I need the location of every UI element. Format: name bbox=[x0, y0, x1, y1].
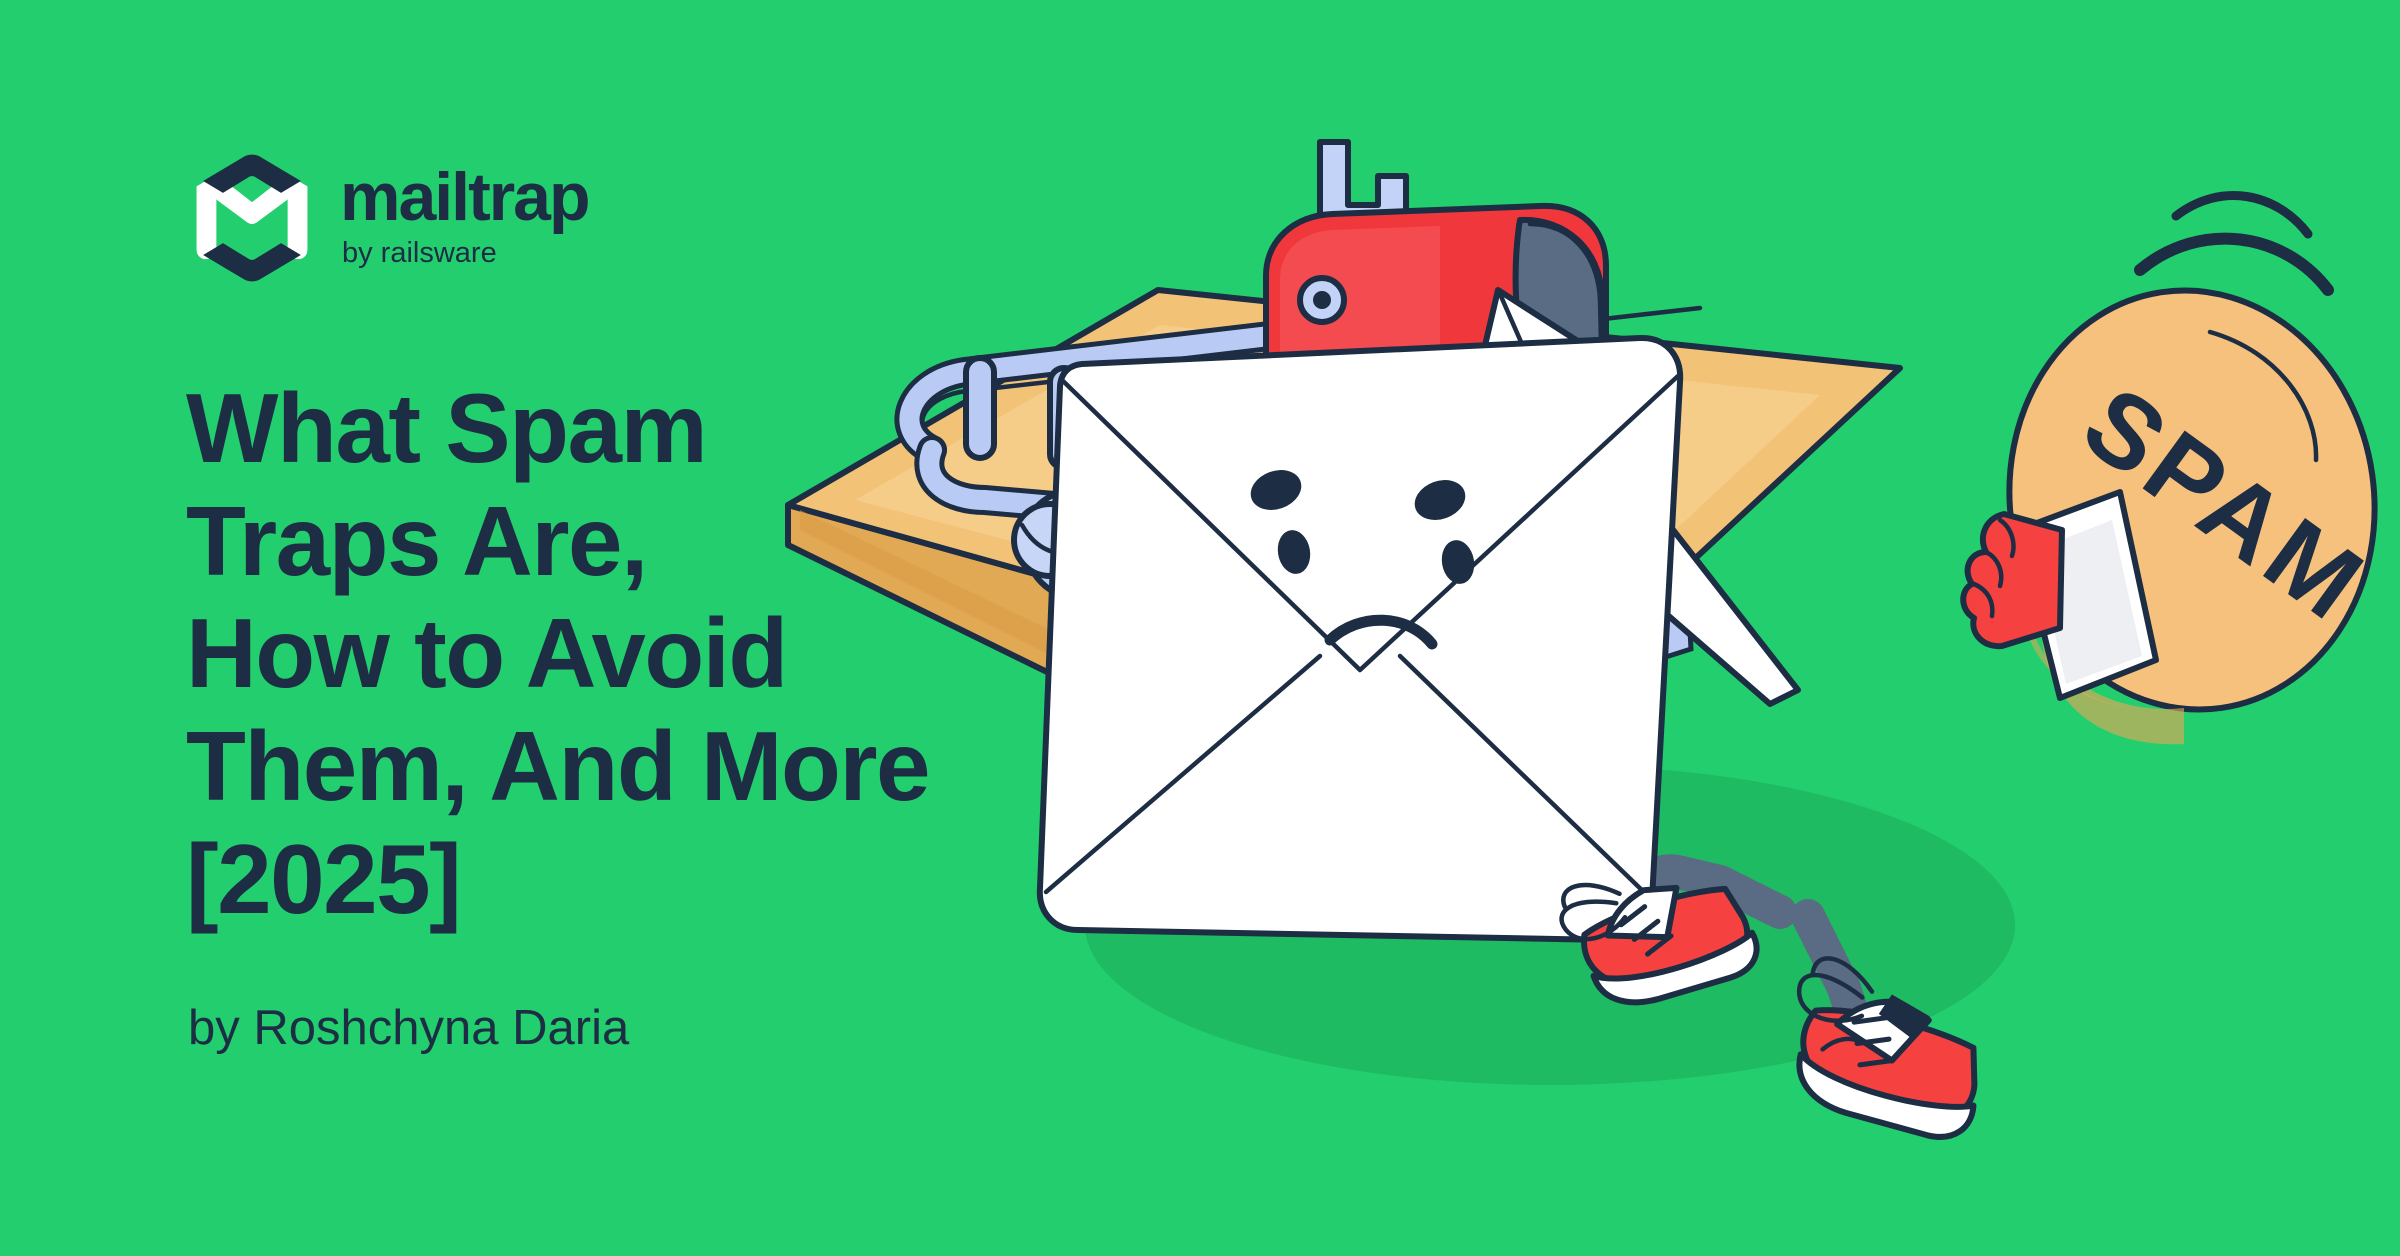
motion-arcs-icon bbox=[2140, 196, 2328, 290]
character-glove bbox=[1963, 514, 2062, 646]
wordmark-label: mailtrap bbox=[340, 166, 589, 235]
hero-illustration: .ol { stroke:#1C2D44; stroke-width:6; st… bbox=[760, 100, 2400, 1140]
tagline-label: by railsware bbox=[342, 237, 497, 269]
spam-ball: SPAM bbox=[1983, 267, 2400, 745]
wordmark-tagline-text: by railsware bbox=[340, 236, 530, 270]
mailtrap-logo[interactable]: mailtrap by railsware bbox=[186, 152, 594, 284]
mailtrap-wordmark: mailtrap by railsware bbox=[340, 166, 594, 270]
wordmark-mailtrap-text: mailtrap bbox=[340, 166, 594, 236]
blog-hero-banner: mailtrap by railsware What Spam Traps Ar… bbox=[0, 0, 2400, 1256]
character-envelope-body bbox=[1040, 338, 1680, 940]
author-byline: by Roshchyna Daria bbox=[188, 1000, 629, 1056]
mailtrap-hexagon-m-logo-icon bbox=[186, 152, 318, 284]
